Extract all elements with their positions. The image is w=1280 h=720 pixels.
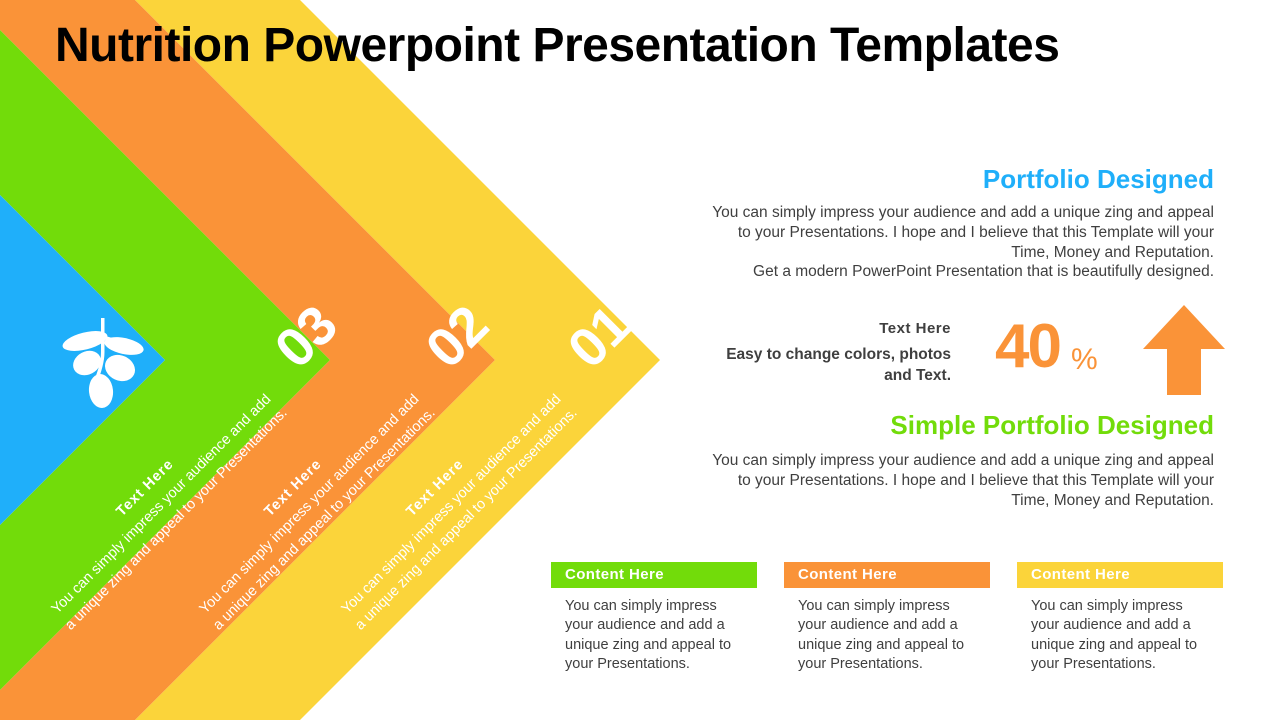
slide-canvas: 03 02 01 Text Here You can simply impres… bbox=[0, 0, 1280, 720]
content-card-2-body: You can simply impress your audience and… bbox=[784, 588, 990, 674]
portfolio-paragraph: You can simply impress your audience and… bbox=[700, 203, 1214, 282]
stat-sublabel: Easy to change colors, photos and Text. bbox=[700, 345, 951, 387]
chevron-graphic bbox=[0, 0, 700, 720]
content-card-3-body: You can simply impress your audience and… bbox=[1017, 588, 1223, 674]
page-title: Nutrition Powerpoint Presentation Templa… bbox=[55, 18, 1235, 73]
stat-label: Text Here bbox=[700, 320, 951, 337]
content-card-3[interactable]: Content Here You can simply impress your… bbox=[1017, 562, 1223, 674]
chevron-svg bbox=[0, 0, 700, 720]
simple-portfolio-paragraph: You can simply impress your audience and… bbox=[700, 451, 1214, 510]
stat-value: 40 bbox=[995, 316, 1060, 378]
content-card-3-header: Content Here bbox=[1017, 562, 1223, 588]
simple-portfolio-heading: Simple Portfolio Designed bbox=[700, 410, 1214, 441]
portfolio-heading: Portfolio Designed bbox=[700, 164, 1214, 195]
content-card-2-header: Content Here bbox=[784, 562, 990, 588]
content-card-2[interactable]: Content Here You can simply impress your… bbox=[784, 562, 990, 674]
stat-unit: % bbox=[1071, 345, 1098, 375]
up-arrow-icon bbox=[1143, 305, 1225, 395]
